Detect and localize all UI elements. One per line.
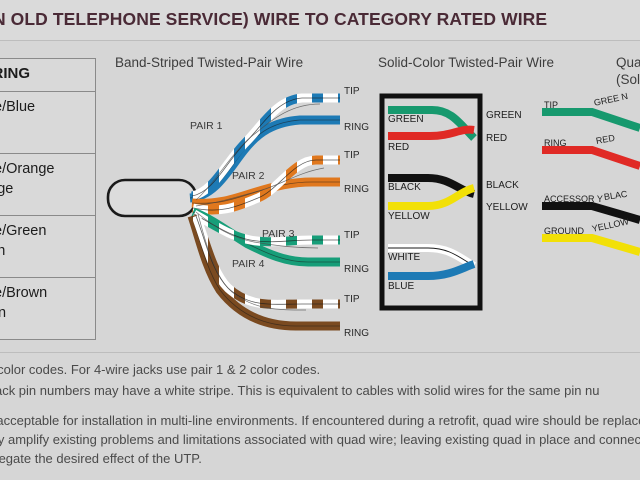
solid-out-label-yellow: YELLOW <box>486 202 528 213</box>
solid-label-white: WHITE <box>388 252 420 263</box>
quad-yellow-wire <box>542 238 640 252</box>
footnote-divider-top <box>0 352 640 353</box>
quad-function-tip: TIP <box>544 100 558 110</box>
pair2-tip-label: TIP <box>344 150 360 161</box>
solid-label-green: GREEN <box>388 114 424 125</box>
footnote-line-3: ger acceptable for installation in multi… <box>0 411 640 430</box>
quad-red-wire <box>542 150 640 166</box>
pair3-tip-label: TIP <box>344 230 360 241</box>
solid-label-black: BLACK <box>388 182 421 193</box>
footnote-line-4: l only amplify existing problems and lim… <box>0 430 640 449</box>
footnote-line-2: en jack pin numbers may have a white str… <box>0 381 600 400</box>
wiring-diagram-svg <box>0 0 640 480</box>
pair4-label: PAIR 4 <box>232 258 264 270</box>
cable-jacket <box>108 180 196 216</box>
quad-function-ground: GROUND <box>544 226 584 236</box>
solid-red-wire <box>388 130 474 136</box>
solid-label-blue: BLUE <box>388 281 414 292</box>
pair4-tip-label: TIP <box>344 294 360 305</box>
pair2-ring-label: RING <box>344 184 369 195</box>
pair1-ring-label: RING <box>344 122 369 133</box>
solid-blue-wire <box>388 264 474 276</box>
solid-out-label-black: BLACK <box>486 180 519 191</box>
footnote-line-1: & 3 color codes. For 4-wire jacks use pa… <box>0 360 320 379</box>
quad-function-accessory: ACCESSOR Y <box>544 194 603 204</box>
pair3-label: PAIR 3 <box>262 228 294 240</box>
pair2-label: PAIR 2 <box>232 170 264 182</box>
pair4-ring-label: RING <box>344 328 369 339</box>
solid-label-yellow: YELLOW <box>388 211 430 222</box>
pair1-tip-label: TIP <box>344 86 360 97</box>
quad-function-ring: RING <box>544 138 567 148</box>
solid-out-label-red: RED <box>486 133 507 144</box>
diagram-page: IN OLD TELEPHONE SERVICE) WIRE TO CATEGO… <box>0 0 640 480</box>
pair3-ring-label: RING <box>344 264 369 275</box>
solid-label-red: RED <box>388 142 409 153</box>
pair1-label: PAIR 1 <box>190 120 222 132</box>
quad-green-wire <box>542 112 640 128</box>
solid-out-label-green: GREEN <box>486 110 522 121</box>
footnote-line-5: ay negate the desired effect of the UTP. <box>0 449 202 468</box>
